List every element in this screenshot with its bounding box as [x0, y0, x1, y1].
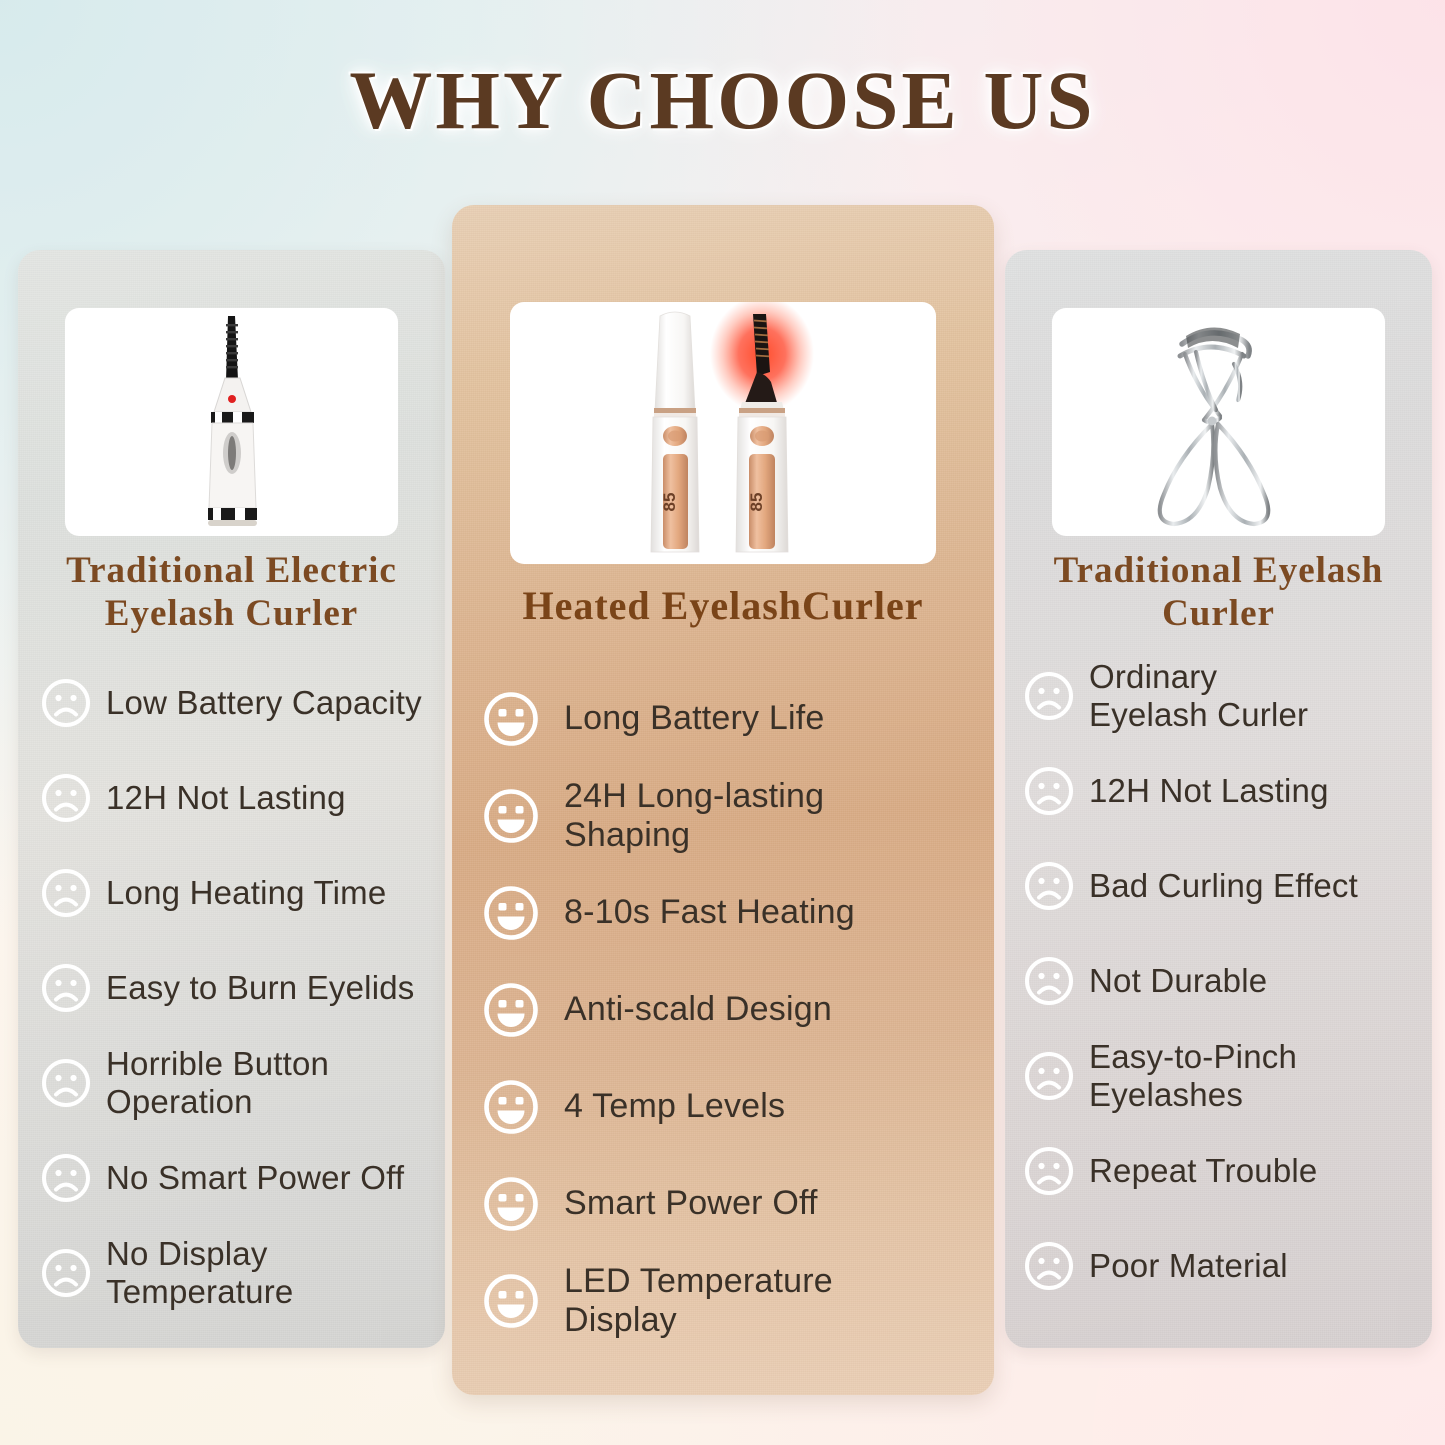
list-item: Smart Power Off [482, 1155, 976, 1252]
product-image-panel-left [65, 308, 398, 536]
feature-label: No Smart Power Off [106, 1159, 404, 1197]
sad-face-icon [40, 772, 92, 824]
feature-label: Repeat Trouble [1089, 1152, 1317, 1190]
feature-label: 24H Long-lasting Shaping [564, 777, 824, 855]
feature-label: Not Durable [1089, 962, 1267, 1000]
happy-face-icon [482, 787, 540, 845]
feature-label: 4 Temp Levels [564, 1087, 785, 1126]
feature-label: Long Heating Time [106, 874, 386, 912]
list-item: Easy to Burn Eyelids [40, 940, 431, 1035]
sad-face-icon [40, 962, 92, 1014]
svg-text:85: 85 [660, 493, 679, 512]
happy-face-icon [482, 1175, 540, 1233]
sad-face-icon [40, 677, 92, 729]
list-item: Long Battery Life [482, 670, 976, 767]
feature-label: Horrible Button Operation [106, 1045, 329, 1120]
happy-face-icon [482, 1272, 540, 1330]
sad-face-icon [1023, 1050, 1075, 1102]
list-item: LED Temperature Display [482, 1252, 976, 1349]
list-item: Poor Material [1023, 1218, 1418, 1313]
list-item: No Display Temperature [40, 1225, 431, 1320]
list-item: Anti-scald Design [482, 961, 976, 1058]
happy-face-icon [482, 981, 540, 1039]
comparison-card-traditional-electric: Traditional Electric Eyelash Curler Low … [18, 250, 445, 1348]
list-item: 24H Long-lasting Shaping [482, 767, 976, 864]
list-item: Repeat Trouble [1023, 1123, 1418, 1218]
page-title: WHY CHOOSE US [0, 52, 1445, 148]
list-item: Easy-to-Pinch Eyelashes [1023, 1028, 1418, 1123]
svg-text:85: 85 [747, 493, 766, 512]
sad-face-icon [1023, 1240, 1075, 1292]
feature-list-heated-eyelash-curler: Long Battery Life 24H Long-lasting Shapi… [482, 670, 976, 1349]
feature-label: 8-10s Fast Heating [564, 893, 855, 932]
happy-face-icon [482, 690, 540, 748]
sad-face-icon [1023, 955, 1075, 1007]
list-item: 12H Not Lasting [40, 750, 431, 845]
sad-face-icon [40, 1057, 92, 1109]
list-item: Bad Curling Effect [1023, 838, 1418, 933]
feature-label: 12H Not Lasting [106, 779, 346, 817]
list-item: Not Durable [1023, 933, 1418, 1028]
product-image-panel-right [1052, 308, 1385, 536]
list-item: 12H Not Lasting [1023, 743, 1418, 838]
list-item: 8-10s Fast Heating [482, 864, 976, 961]
comparison-card-traditional-manual: Traditional Eyelash Curler Ordinary Eyel… [1005, 250, 1432, 1348]
sad-face-icon [1023, 670, 1075, 722]
comparison-card-heated-eyelash-curler: 85 [452, 205, 994, 1395]
column-title-traditional-electric: Traditional Electric Eyelash Curler [32, 550, 431, 636]
sad-face-icon [40, 1152, 92, 1204]
list-item: 4 Temp Levels [482, 1058, 976, 1155]
feature-label: Low Battery Capacity [106, 684, 422, 722]
list-item: Ordinary Eyelash Curler [1023, 648, 1418, 743]
list-item: Long Heating Time [40, 845, 431, 940]
feature-label: Bad Curling Effect [1089, 867, 1358, 905]
happy-face-icon [482, 1078, 540, 1136]
traditional-electric-eyelash-curler-icon [65, 308, 398, 536]
feature-label: Long Battery Life [564, 699, 824, 738]
sad-face-icon [1023, 860, 1075, 912]
traditional-manual-eyelash-curler-icon [1052, 308, 1385, 536]
column-title-traditional-manual: Traditional Eyelash Curler [1019, 550, 1418, 636]
feature-label: Ordinary Eyelash Curler [1089, 658, 1308, 733]
heated-eyelash-curler-icon: 85 [510, 302, 936, 564]
column-title-heated-eyelash-curler: Heated EyelashCurler [466, 583, 980, 629]
feature-label: 12H Not Lasting [1089, 772, 1329, 810]
feature-label: LED Temperature Display [564, 1262, 833, 1340]
sad-face-icon [40, 1247, 92, 1299]
list-item: Horrible Button Operation [40, 1035, 431, 1130]
feature-label: Poor Material [1089, 1247, 1288, 1285]
feature-label: Smart Power Off [564, 1184, 818, 1223]
feature-label: Easy to Burn Eyelids [106, 969, 414, 1007]
list-item: No Smart Power Off [40, 1130, 431, 1225]
feature-list-traditional-electric: Low Battery Capacity 12H Not Lasting Lon… [40, 655, 431, 1320]
sad-face-icon [1023, 765, 1075, 817]
feature-label: Anti-scald Design [564, 990, 832, 1029]
feature-list-traditional-manual: Ordinary Eyelash Curler 12H Not Lasting … [1023, 648, 1418, 1313]
sad-face-icon [1023, 1145, 1075, 1197]
feature-label: Easy-to-Pinch Eyelashes [1089, 1038, 1297, 1113]
product-image-panel-center: 85 [510, 302, 936, 564]
feature-label: No Display Temperature [106, 1235, 293, 1310]
happy-face-icon [482, 884, 540, 942]
list-item: Low Battery Capacity [40, 655, 431, 750]
sad-face-icon [40, 867, 92, 919]
